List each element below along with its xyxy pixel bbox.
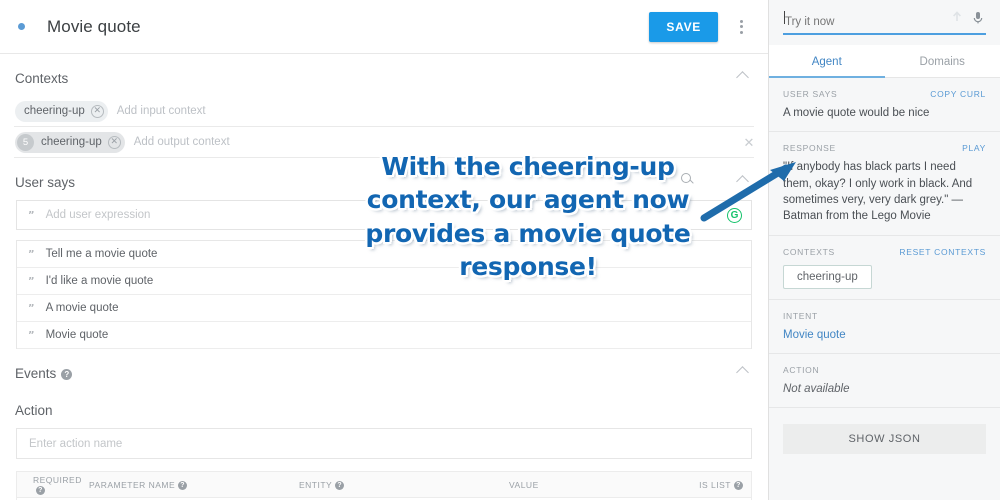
user-says-collapse-chevron-icon[interactable] [726, 161, 762, 197]
simulator-tabs: Agent Domains [769, 45, 1000, 78]
output-context-lifespan-badge[interactable]: 5 [17, 134, 34, 151]
main-content: Movie quote SAVE Contexts cheering-up ✕ … [0, 0, 768, 500]
output-context-chip-label: cheering-up [41, 136, 102, 148]
text-caret [784, 11, 785, 24]
quote-icon: ” [28, 330, 34, 341]
list-item[interactable]: ” I'd like a movie quote [17, 268, 751, 295]
col-parameter-name: PARAMETER NAME? [89, 480, 299, 490]
action-label: Action [0, 391, 768, 428]
user-expression-text: A movie quote [46, 302, 119, 314]
user-says-value: A movie quote would be nice [783, 105, 986, 121]
intent-label: INTENT [783, 311, 986, 321]
events-label: Events [15, 366, 56, 381]
remove-output-context-icon[interactable]: ✕ [108, 136, 121, 149]
list-item[interactable]: ” Movie quote [17, 322, 751, 349]
events-section-header: Events? [0, 349, 768, 391]
input-context-row[interactable]: cheering-up ✕ Add input context [14, 96, 754, 127]
user-expression-text: I'd like a movie quote [46, 275, 154, 287]
user-says-block: USER SAYS COPY CURL A movie quote would … [769, 78, 1000, 132]
col-value: VALUE [509, 480, 687, 490]
add-user-expression-input[interactable]: ” Add user expression G [16, 200, 752, 230]
parameters-table: REQUIRED? PARAMETER NAME? ENTITY? VALUE … [16, 471, 752, 500]
entity-help-icon[interactable]: ? [335, 481, 344, 490]
search-icon[interactable] [672, 164, 702, 194]
tab-agent[interactable]: Agent [769, 45, 885, 77]
add-output-context-placeholder[interactable]: Add output context [134, 136, 230, 148]
user-expression-text: Movie quote [46, 329, 109, 341]
response-block: RESPONSE PLAY "If anybody has black part… [769, 132, 1000, 235]
user-says-header: USER SAYS COPY CURL [783, 89, 986, 99]
try-it-now-area [769, 0, 1000, 45]
contexts-block: CONTEXTS RESET CONTEXTS cheering-up [769, 236, 1000, 300]
col-required: REQUIRED? [17, 475, 89, 495]
quote-icon: ” [28, 249, 34, 260]
events-help-icon[interactable]: ? [61, 369, 72, 380]
simulator-panel: Agent Domains USER SAYS COPY CURL A movi… [768, 0, 1000, 500]
quote-icon: ” [28, 210, 34, 221]
contexts-label: Contexts [0, 54, 726, 96]
add-user-expression-placeholder: Add user expression [46, 209, 151, 221]
status-dot-icon [18, 23, 25, 30]
action-label: ACTION [783, 365, 986, 375]
contexts-section-header: Contexts [0, 54, 768, 96]
list-item[interactable]: ” Tell me a movie quote [17, 241, 751, 268]
intent-value-link[interactable]: Movie quote [783, 327, 986, 343]
save-button[interactable]: SAVE [649, 12, 718, 42]
close-context-row-icon[interactable]: ✕ [738, 132, 760, 154]
page-title: Movie quote [47, 17, 141, 37]
try-it-now-wrapper [783, 12, 986, 35]
reset-contexts-button[interactable]: RESET CONTEXTS [899, 247, 986, 257]
is-list-help-icon[interactable]: ? [734, 481, 743, 490]
intent-toolbar: Movie quote SAVE [0, 0, 768, 54]
action-name-input[interactable]: Enter action name [16, 428, 752, 459]
active-context-pill[interactable]: cheering-up [783, 265, 872, 289]
action-name-placeholder: Enter action name [29, 438, 122, 450]
response-label: RESPONSE [783, 143, 836, 153]
upload-icon[interactable] [950, 10, 964, 25]
action-block: ACTION Not available [769, 354, 1000, 408]
more-options-icon[interactable] [728, 12, 754, 42]
col-entity: ENTITY? [299, 480, 509, 490]
user-says-label: USER SAYS [783, 89, 837, 99]
action-value: Not available [783, 381, 986, 397]
copy-curl-button[interactable]: COPY CURL [930, 89, 986, 99]
input-context-chip-label: cheering-up [24, 105, 85, 117]
contexts-header: CONTEXTS RESET CONTEXTS [783, 247, 986, 257]
quote-icon: ” [28, 303, 34, 314]
dialogflow-intent-screen: Movie quote SAVE Contexts cheering-up ✕ … [0, 0, 1000, 500]
microphone-icon[interactable] [971, 10, 985, 25]
table-header-row: REQUIRED? PARAMETER NAME? ENTITY? VALUE … [17, 472, 751, 498]
contexts-collapse-chevron-icon[interactable] [726, 57, 762, 93]
user-expression-text: Tell me a movie quote [46, 248, 158, 260]
parameter-name-help-icon[interactable]: ? [178, 481, 187, 490]
user-says-section-header: User says [0, 158, 768, 200]
intent-block: INTENT Movie quote [769, 300, 1000, 354]
required-help-icon[interactable]: ? [36, 486, 45, 495]
col-is-list: IS LIST? [687, 480, 751, 490]
user-expression-list: ” Tell me a movie quote ” I'd like a mov… [16, 240, 752, 349]
events-collapse-chevron-icon[interactable] [726, 352, 762, 388]
events-label-wrap: Events? [0, 349, 726, 391]
response-header: RESPONSE PLAY [783, 143, 986, 153]
input-context-chip[interactable]: cheering-up ✕ [15, 101, 108, 122]
grammarly-icon[interactable]: G [727, 208, 742, 223]
show-json-button[interactable]: SHOW JSON [783, 424, 986, 454]
remove-input-context-icon[interactable]: ✕ [91, 105, 104, 118]
response-value: "If anybody has black parts I need them,… [783, 159, 986, 224]
play-button[interactable]: PLAY [962, 143, 986, 153]
output-context-row[interactable]: 5 cheering-up ✕ Add output context ✕ [14, 127, 754, 158]
user-says-label: User says [0, 158, 672, 200]
list-item[interactable]: ” A movie quote [17, 295, 751, 322]
tab-domains[interactable]: Domains [885, 45, 1000, 77]
quote-icon: ” [28, 276, 34, 287]
contexts-label: CONTEXTS [783, 247, 835, 257]
output-context-chip[interactable]: 5 cheering-up ✕ [15, 132, 125, 153]
add-input-context-placeholder[interactable]: Add input context [117, 105, 206, 117]
